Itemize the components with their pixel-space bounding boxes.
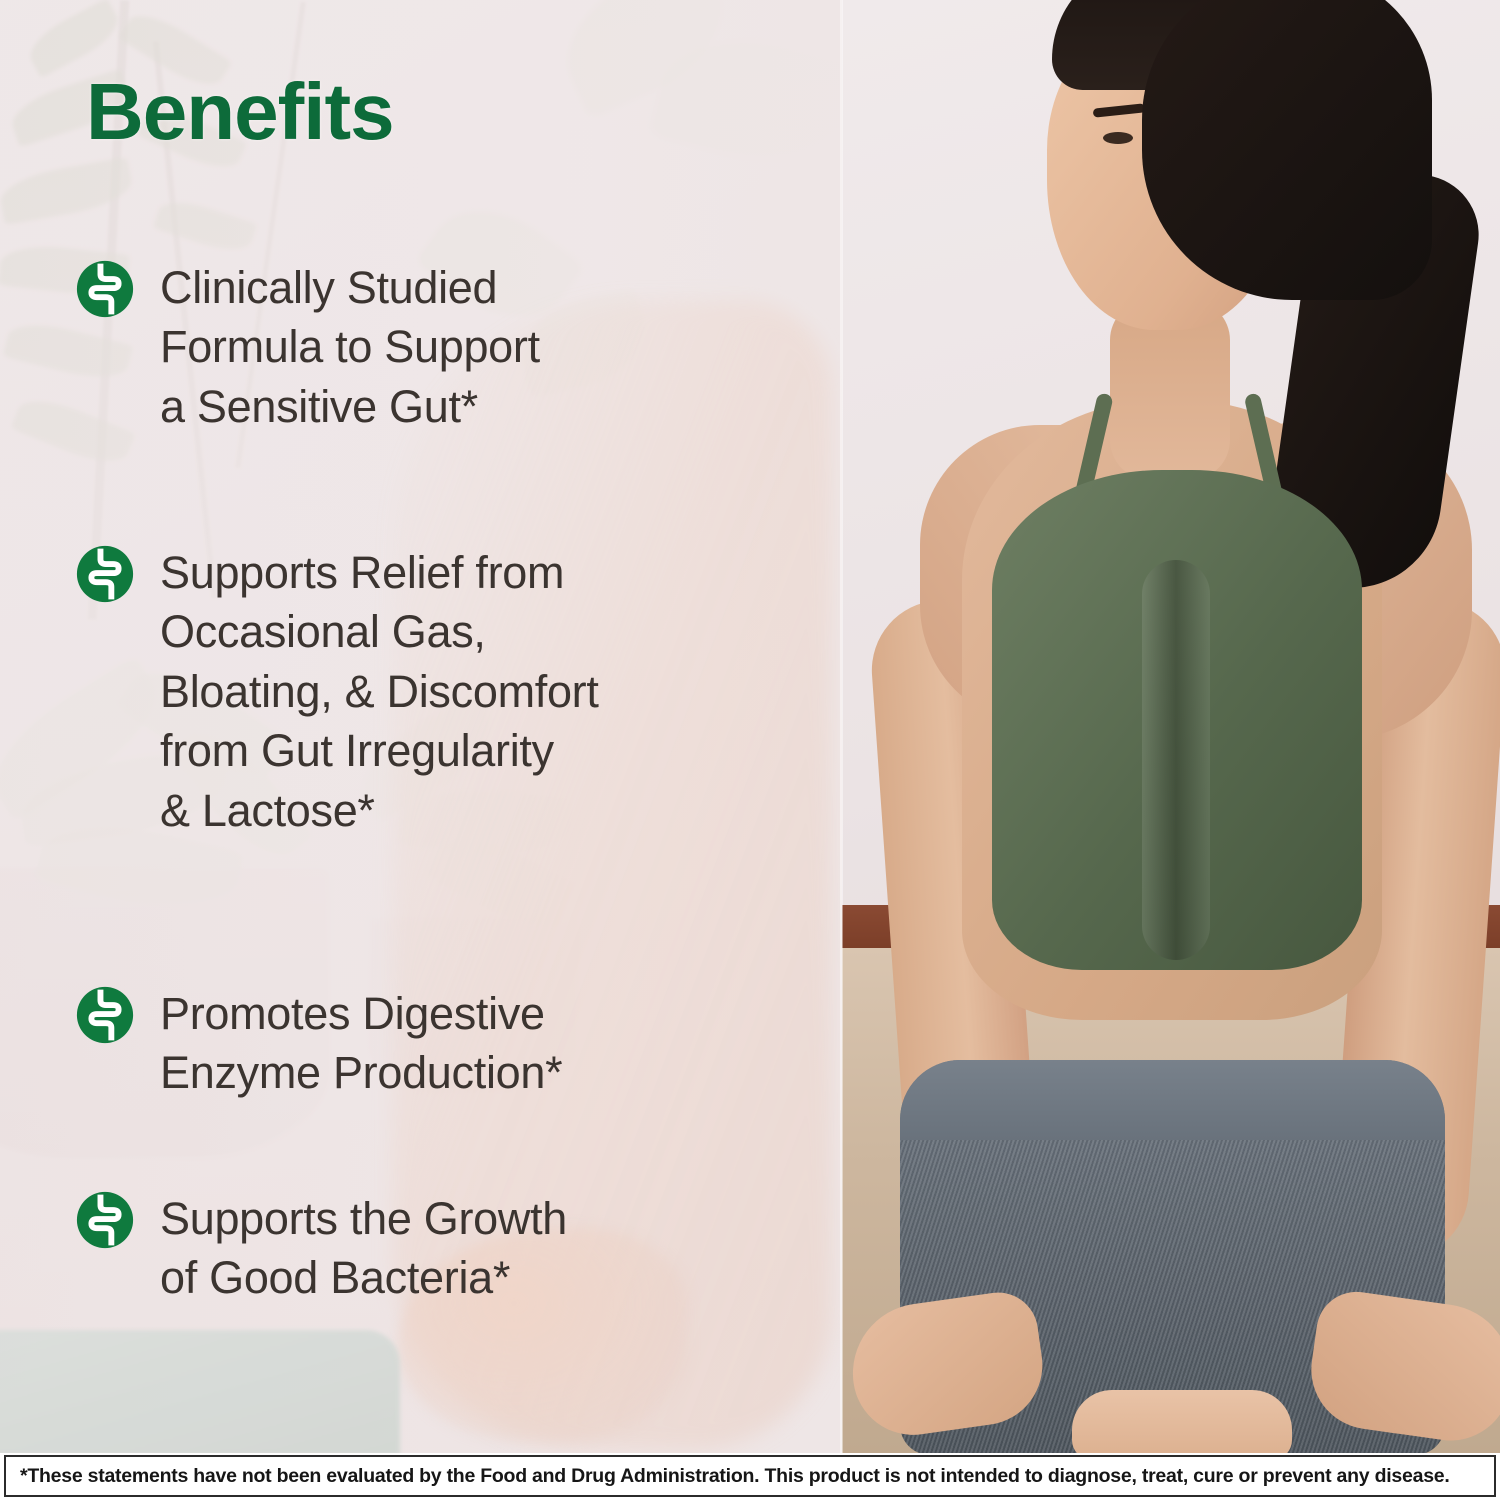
hair (1142, 0, 1432, 300)
gut-intestine-icon (76, 1191, 134, 1249)
benefits-panel: Benefits Clinically Studied Formula to S… (0, 0, 842, 1453)
disclaimer-text: *These statements have not been evaluate… (6, 1465, 1450, 1488)
benefit-item-label: Promotes Digestive Enzyme Production* (160, 984, 562, 1103)
benefit-item-1: Clinically Studied Formula to Support a … (76, 258, 540, 436)
product-benefits-infographic: Benefits Clinically Studied Formula to S… (0, 0, 1500, 1500)
gut-intestine-icon (76, 986, 134, 1044)
benefit-item-2: Supports Relief from Occasional Gas, Blo… (76, 543, 599, 840)
top-ruching (1142, 560, 1210, 960)
lifestyle-photo (842, 0, 1500, 1453)
gut-intestine-icon (76, 545, 134, 603)
benefit-item-label: Supports Relief from Occasional Gas, Blo… (160, 543, 599, 840)
benefits-content: Benefits Clinically Studied Formula to S… (0, 0, 842, 1453)
benefit-item-label: Supports the Growth of Good Bacteria* (160, 1189, 567, 1308)
eye-icon (1103, 132, 1133, 144)
gut-intestine-icon (76, 260, 134, 318)
benefit-item-label: Clinically Studied Formula to Support a … (160, 258, 540, 436)
panel-divider (840, 0, 843, 1453)
foot (1072, 1390, 1292, 1453)
leggings-waistband (900, 1060, 1445, 1140)
benefit-item-4: Supports the Growth of Good Bacteria* (76, 1189, 567, 1308)
eyebrow-icon (1093, 103, 1146, 117)
benefit-item-3: Promotes Digestive Enzyme Production* (76, 984, 562, 1103)
page-title: Benefits (86, 72, 394, 152)
disclaimer-bar: *These statements have not been evaluate… (4, 1455, 1496, 1497)
